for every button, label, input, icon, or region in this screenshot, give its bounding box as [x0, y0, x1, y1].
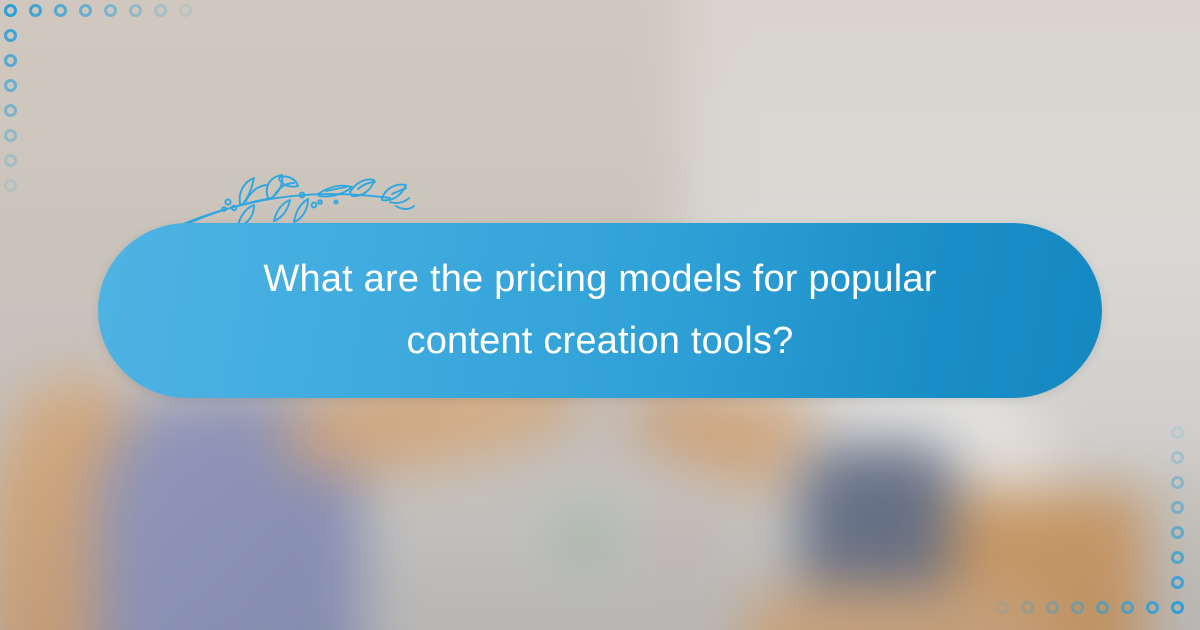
- decorative-dot: [1171, 526, 1184, 539]
- decorative-dot: [129, 4, 142, 17]
- decorative-dot: [4, 104, 17, 117]
- decorative-dot: [1046, 601, 1059, 614]
- decorative-dot: [1021, 601, 1034, 614]
- decorative-dot: [1171, 476, 1184, 489]
- page-title: What are the pricing models for popular …: [250, 249, 950, 372]
- decorative-dot: [1171, 426, 1184, 439]
- decorative-dot: [4, 179, 17, 192]
- decorative-dot: [1146, 601, 1159, 614]
- decorative-dot: [4, 54, 17, 67]
- decorative-dot: [4, 29, 17, 42]
- decorative-dot: [996, 601, 1009, 614]
- decorative-dot: [1171, 576, 1184, 589]
- decorative-dot: [1096, 601, 1109, 614]
- decorative-dot: [1121, 601, 1134, 614]
- decorative-dot: [4, 4, 17, 17]
- decorative-dot: [4, 154, 17, 167]
- decorative-dot: [79, 4, 92, 17]
- corner-dots-bottom-right: [996, 426, 1196, 626]
- title-pill: What are the pricing models for popular …: [98, 223, 1102, 398]
- social-card: What are the pricing models for popular …: [0, 0, 1200, 630]
- decorative-dot: [4, 129, 17, 142]
- decorative-dot: [1171, 601, 1184, 614]
- decorative-dot: [154, 4, 167, 17]
- decorative-dot: [1171, 551, 1184, 564]
- decorative-dot: [179, 4, 192, 17]
- decorative-dot: [104, 4, 117, 17]
- decorative-dot: [1171, 451, 1184, 464]
- decorative-dot: [4, 79, 17, 92]
- decorative-dot: [1071, 601, 1084, 614]
- decorative-dot: [54, 4, 67, 17]
- decorative-dot: [1171, 501, 1184, 514]
- decorative-dot: [29, 4, 42, 17]
